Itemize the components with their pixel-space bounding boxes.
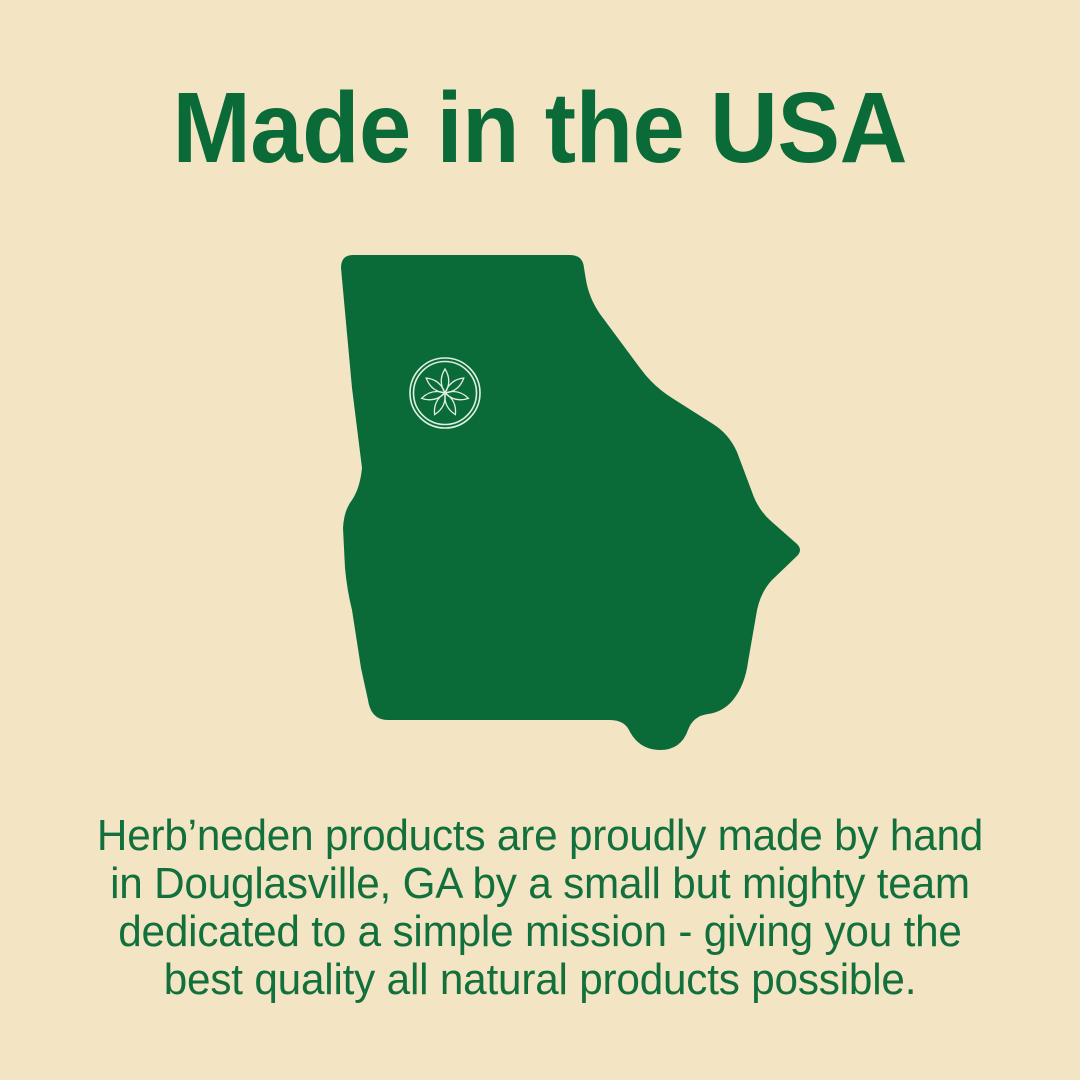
made-in-usa-card: Made in the USA: [0, 0, 1080, 1080]
body-copy-line: dedicated to a simple mission - giving y…: [91, 908, 990, 956]
page-title-container: Made in the USA: [0, 78, 1080, 178]
georgia-silhouette-path: [341, 255, 800, 750]
page-title: Made in the USA: [173, 78, 908, 178]
body-copy: Herb’neden products are proudly made by …: [91, 812, 990, 1004]
body-copy-line: best quality all natural products possib…: [91, 956, 990, 1004]
georgia-state-shape: [0, 238, 1080, 778]
georgia-map-illustration: [0, 238, 1080, 778]
body-copy-line: Herb’neden products are proudly made by …: [91, 812, 990, 860]
body-copy-container: Herb’neden products are proudly made by …: [0, 812, 1080, 1004]
body-copy-line: in Douglasville, GA by a small but might…: [91, 860, 990, 908]
